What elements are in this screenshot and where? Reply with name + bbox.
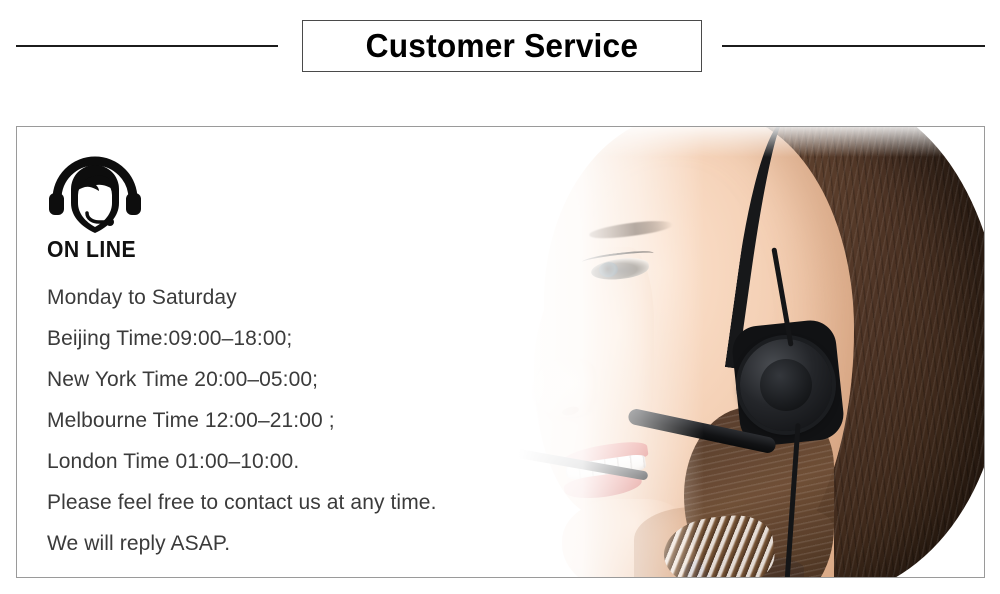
online-label: ON LINE [47, 238, 139, 261]
page-title-box: Customer Service [302, 20, 702, 72]
service-info: ON LINE Monday to Saturday Beijing Time:… [47, 155, 587, 564]
headset-earcup [740, 339, 832, 431]
header-rule-left [16, 45, 278, 47]
service-line: Beijing Time:09:00–18:00; [47, 318, 587, 359]
page-title: Customer Service [366, 27, 638, 65]
online-badge: ON LINE [47, 155, 147, 261]
content-panel: ON LINE Monday to Saturday Beijing Time:… [16, 126, 985, 578]
service-line: New York Time 20:00–05:00; [47, 359, 587, 400]
service-line: Please feel free to contact us at any ti… [47, 482, 587, 523]
page-header: Customer Service [0, 0, 1000, 95]
service-line: Melbourne Time 12:00–21:00 ; [47, 400, 587, 441]
service-line: London Time 01:00–10:00. [47, 441, 587, 482]
service-line: We will reply ASAP. [47, 523, 587, 564]
service-line: Monday to Saturday [47, 277, 587, 318]
service-hours-list: Monday to Saturday Beijing Time:09:00–18… [47, 277, 587, 564]
headset-agent-icon [47, 155, 147, 235]
customer-service-banner: Customer Service [0, 0, 1000, 594]
header-rule-right [722, 45, 985, 47]
